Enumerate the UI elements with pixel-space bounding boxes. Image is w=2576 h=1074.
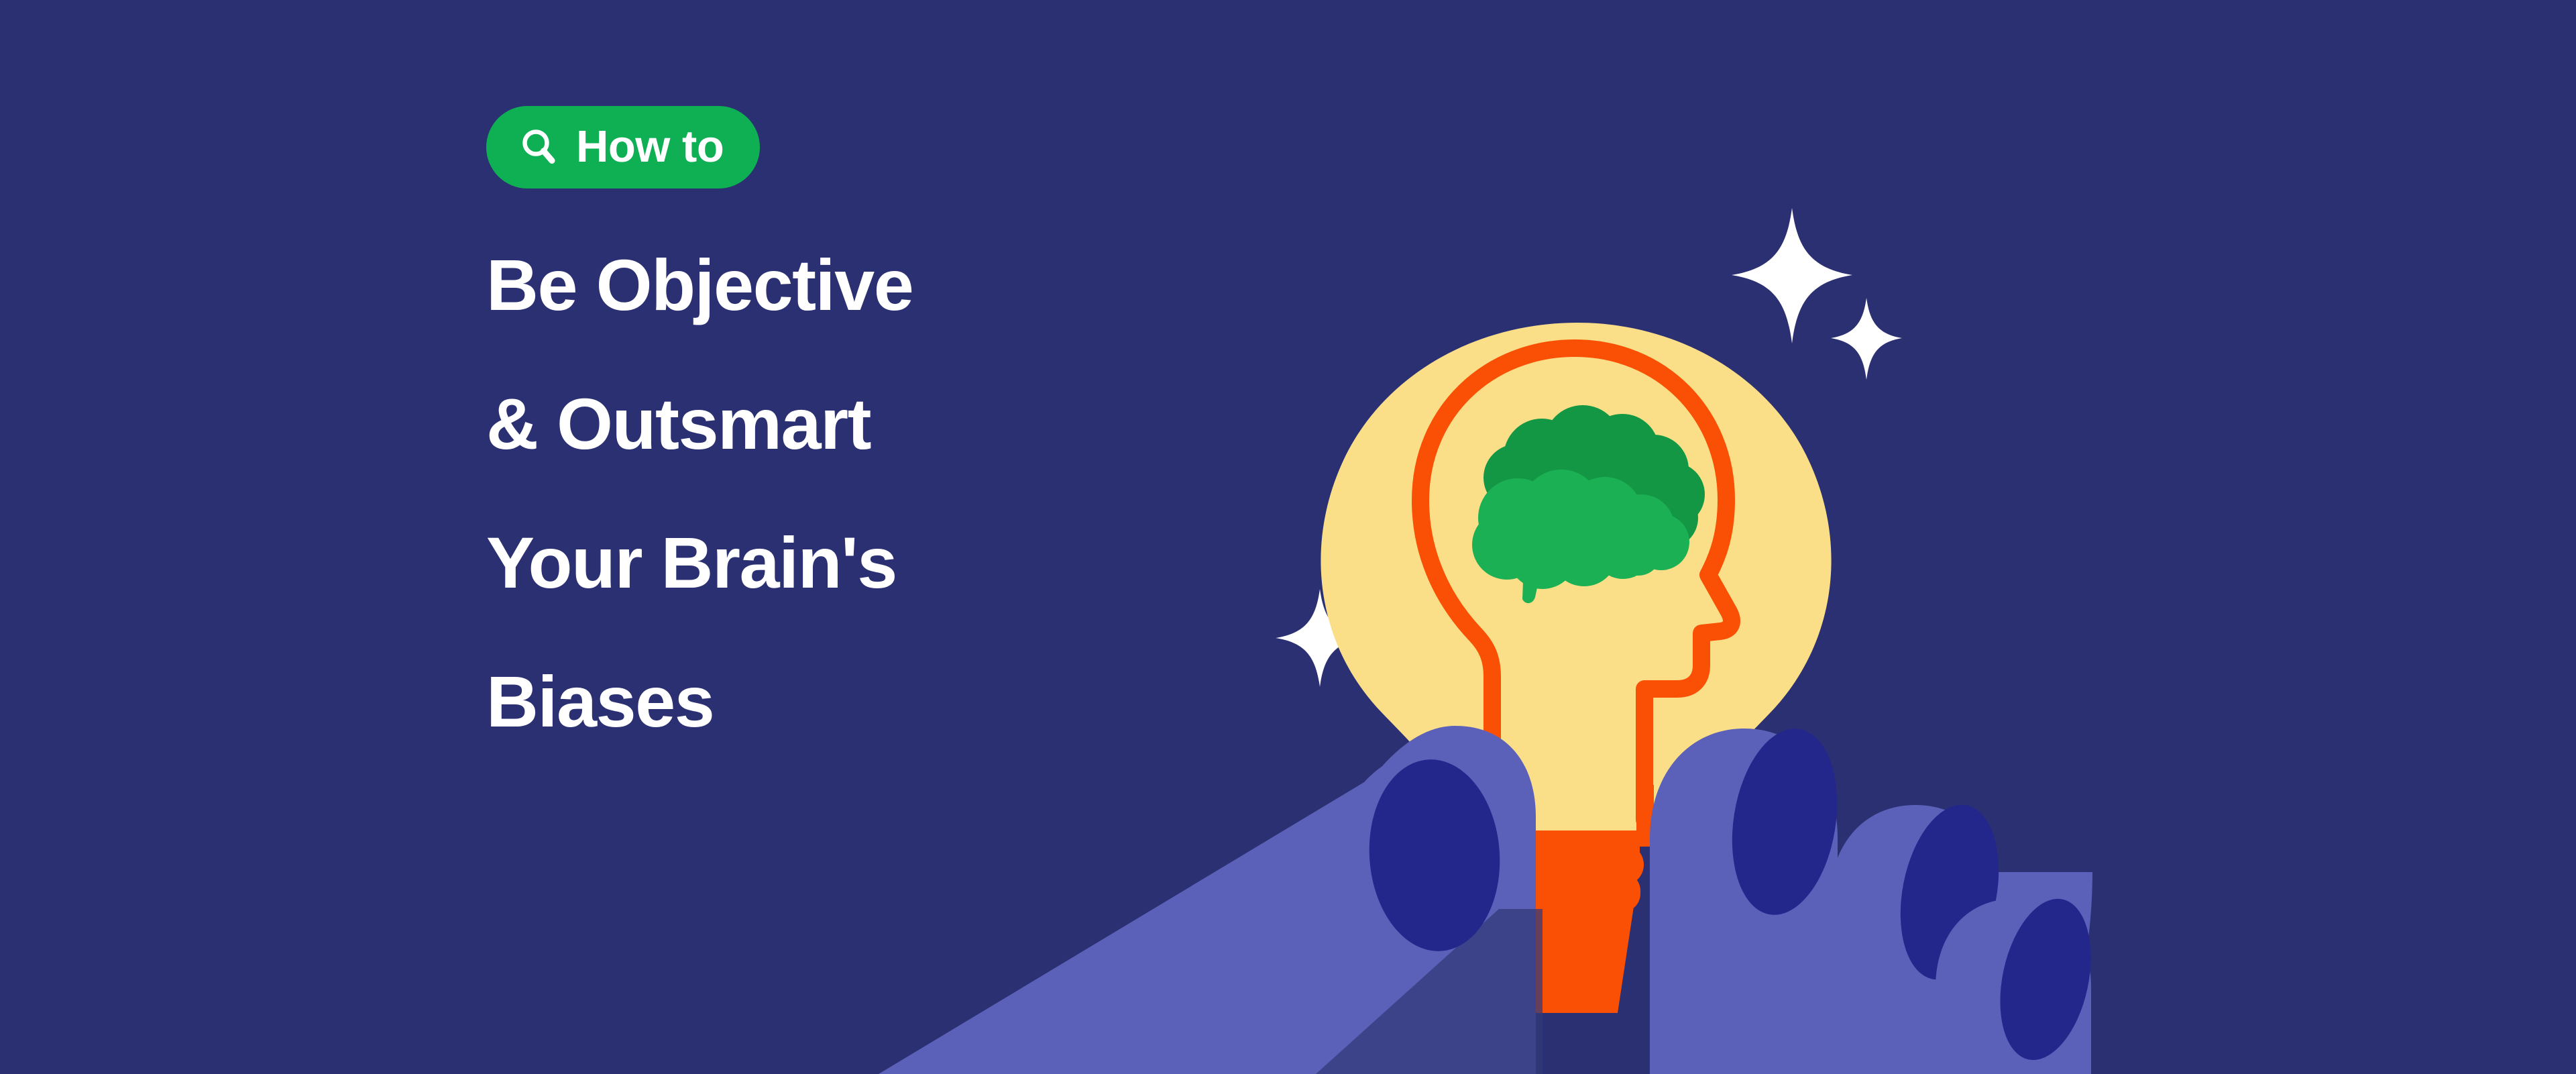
how-to-badge-label: How to [576, 124, 724, 169]
headline-line-1: Be Objective [486, 249, 1492, 307]
how-to-badge[interactable]: How to [486, 106, 760, 189]
how-to-hero-banner: How to Be Objective & Outsmart Your Brai… [0, 0, 2576, 1074]
headline-line-3: Your Brain's [486, 527, 1492, 584]
hero-text-column: How to Be Objective & Outsmart Your Brai… [486, 106, 1492, 723]
headline-line-4: Biases [486, 665, 1492, 723]
headline-line-2: & Outsmart [486, 388, 1492, 445]
search-icon [520, 127, 559, 166]
page-title: Be Objective & Outsmart Your Brain's Bia… [486, 249, 1492, 723]
